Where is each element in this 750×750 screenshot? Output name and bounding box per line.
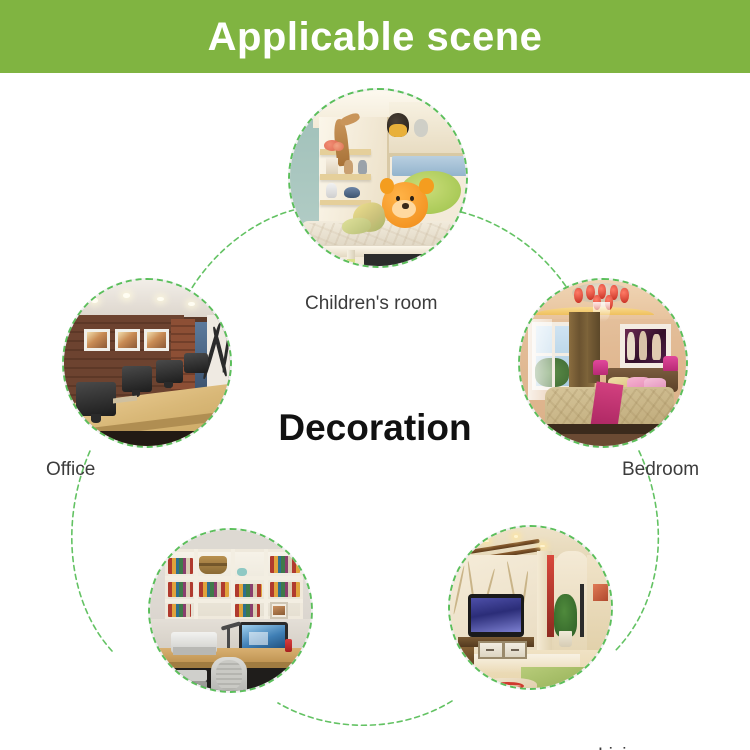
- scene-study[interactable]: Study: [148, 528, 313, 693]
- page-title: Applicable scene: [208, 17, 543, 57]
- scene-living-room[interactable]: Living room: [448, 525, 613, 690]
- scene-childrens-room[interactable]: Children's room: [288, 88, 468, 268]
- arc-bedroom-living: [615, 451, 658, 651]
- applicable-scene-infographic: Applicable scene: [0, 0, 750, 750]
- diagram-center-title: Decoration: [0, 409, 750, 446]
- study-photo: [148, 528, 313, 693]
- label-office: Office: [46, 460, 95, 479]
- study-photo-circle[interactable]: [148, 528, 313, 693]
- label-childrens-room: Children's room: [305, 294, 437, 313]
- childrens-room-photo: [288, 88, 468, 268]
- living-room-photo-circle[interactable]: [448, 525, 613, 690]
- arc-study-office: [72, 451, 112, 651]
- label-living-room: Living room: [598, 746, 696, 750]
- arc-living-study: [278, 701, 452, 725]
- header-banner: Applicable scene: [0, 0, 750, 73]
- diagram-stage: Children's room: [0, 73, 750, 750]
- living-room-photo: [448, 525, 613, 690]
- childrens-room-photo-circle[interactable]: [288, 88, 468, 268]
- label-bedroom: Bedroom: [622, 460, 699, 479]
